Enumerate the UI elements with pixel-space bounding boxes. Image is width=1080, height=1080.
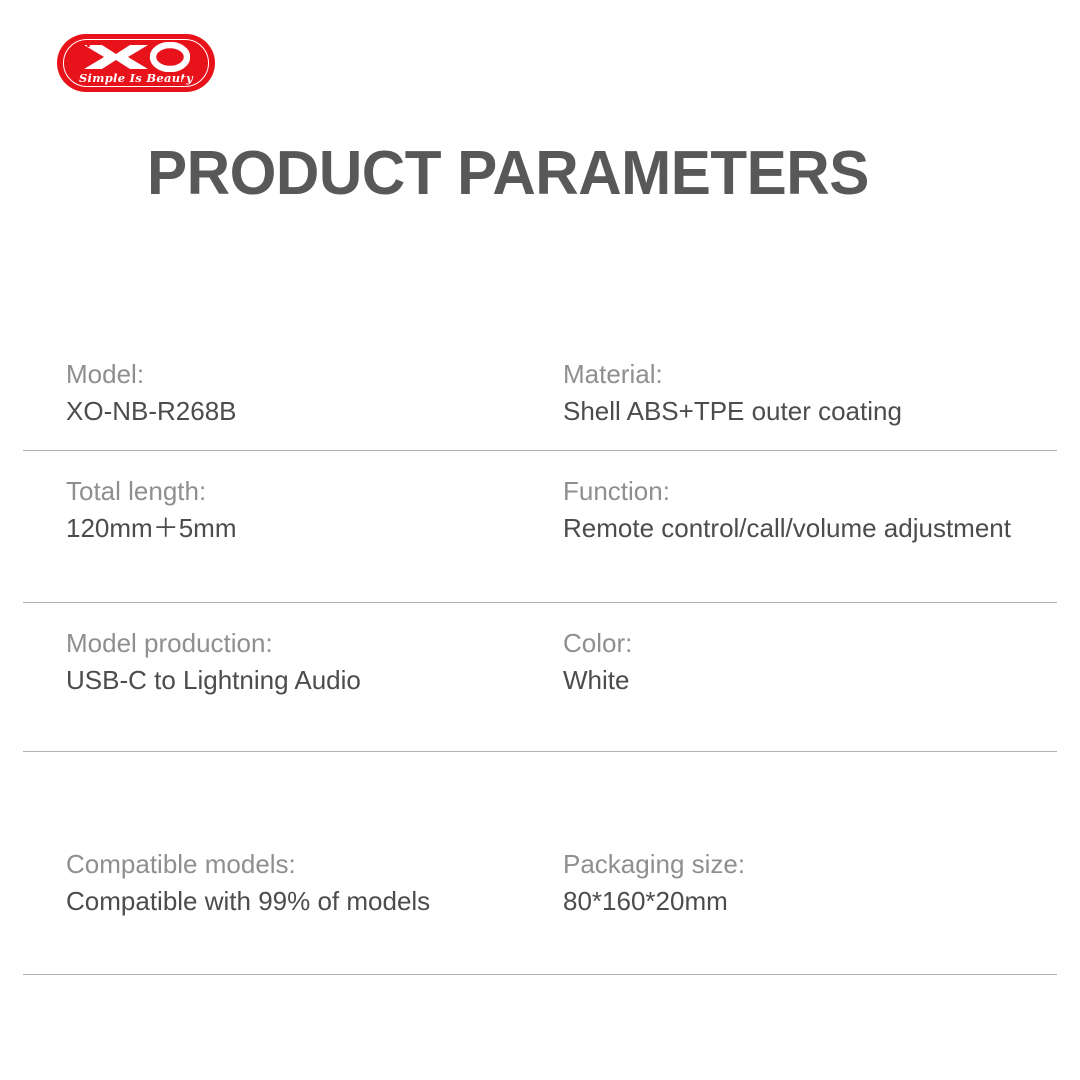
- page-title: PRODUCT PARAMETERS: [147, 143, 869, 205]
- spec-label: Compatible models:: [66, 846, 531, 883]
- spec-cell-compatible-models: Compatible models: Compatible with 99% o…: [23, 846, 531, 974]
- table-row: Model production: USB-C to Lightning Aud…: [23, 603, 1057, 752]
- spec-cell-packaging-size: Packaging size: 80*160*20mm: [531, 846, 1057, 974]
- xo-wordmark-icon: [57, 42, 215, 72]
- spec-label: Total length:: [66, 473, 531, 510]
- product-parameters-table: Model: XO-NB-R268B Material: Shell ABS+T…: [23, 340, 1057, 975]
- table-row: Compatible models: Compatible with 99% o…: [23, 752, 1057, 975]
- spec-value: XO-NB-R268B: [66, 393, 531, 430]
- spec-value: USB-C to Lightning Audio: [66, 662, 531, 699]
- spec-value: Compatible with 99% of models: [66, 883, 531, 920]
- spec-value: Shell ABS+TPE outer coating: [563, 393, 1057, 430]
- logo-tagline: Simple Is Beauty: [57, 71, 215, 85]
- spec-label: Model:: [66, 356, 531, 393]
- spec-label: Material:: [563, 356, 1057, 393]
- logo-accent-dot: [172, 82, 175, 85]
- spec-cell-material: Material: Shell ABS+TPE outer coating: [531, 356, 1057, 450]
- spec-label: Model production:: [66, 625, 531, 662]
- spec-value: Remote control/call/volume adjustment: [563, 510, 1057, 547]
- spec-cell-function: Function: Remote control/call/volume adj…: [531, 473, 1057, 602]
- spec-value: 120mm＋5mm: [66, 510, 531, 547]
- spec-label: Function:: [563, 473, 1057, 510]
- spec-label: Color:: [563, 625, 1057, 662]
- spec-value: White: [563, 662, 1057, 699]
- logo-accent-dot: [182, 79, 185, 82]
- brand-logo: Simple Is Beauty: [57, 34, 215, 92]
- table-row: Total length: 120mm＋5mm Function: Remote…: [23, 451, 1057, 603]
- spec-cell-model-production: Model production: USB-C to Lightning Aud…: [23, 625, 531, 751]
- table-row: Model: XO-NB-R268B Material: Shell ABS+T…: [23, 340, 1057, 451]
- spec-value: 80*160*20mm: [563, 883, 1057, 920]
- spec-cell-total-length: Total length: 120mm＋5mm: [23, 473, 531, 602]
- spec-cell-model: Model: XO-NB-R268B: [23, 356, 531, 450]
- spec-label: Packaging size:: [563, 846, 1057, 883]
- spec-cell-color: Color: White: [531, 625, 1057, 751]
